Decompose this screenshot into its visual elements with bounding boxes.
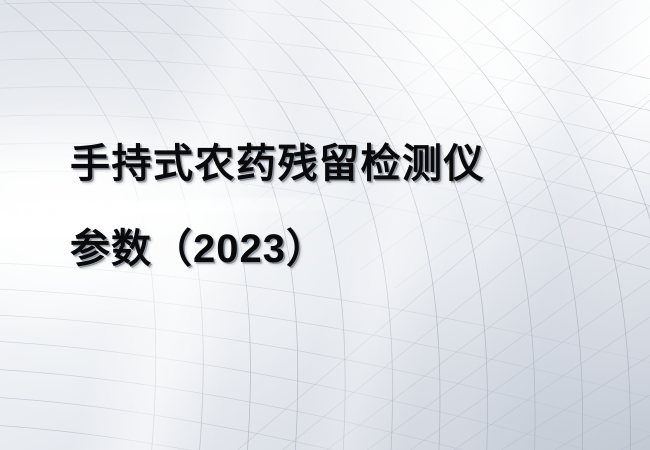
banner-title-line-2: 参数（2023） (70, 207, 610, 292)
banner-title-line-1: 手持式农药残留检测仪 (70, 122, 610, 207)
banner-title: 手持式农药残留检测仪 参数（2023） (70, 122, 610, 292)
banner-image: 手持式农药残留检测仪 参数（2023） (0, 0, 650, 450)
